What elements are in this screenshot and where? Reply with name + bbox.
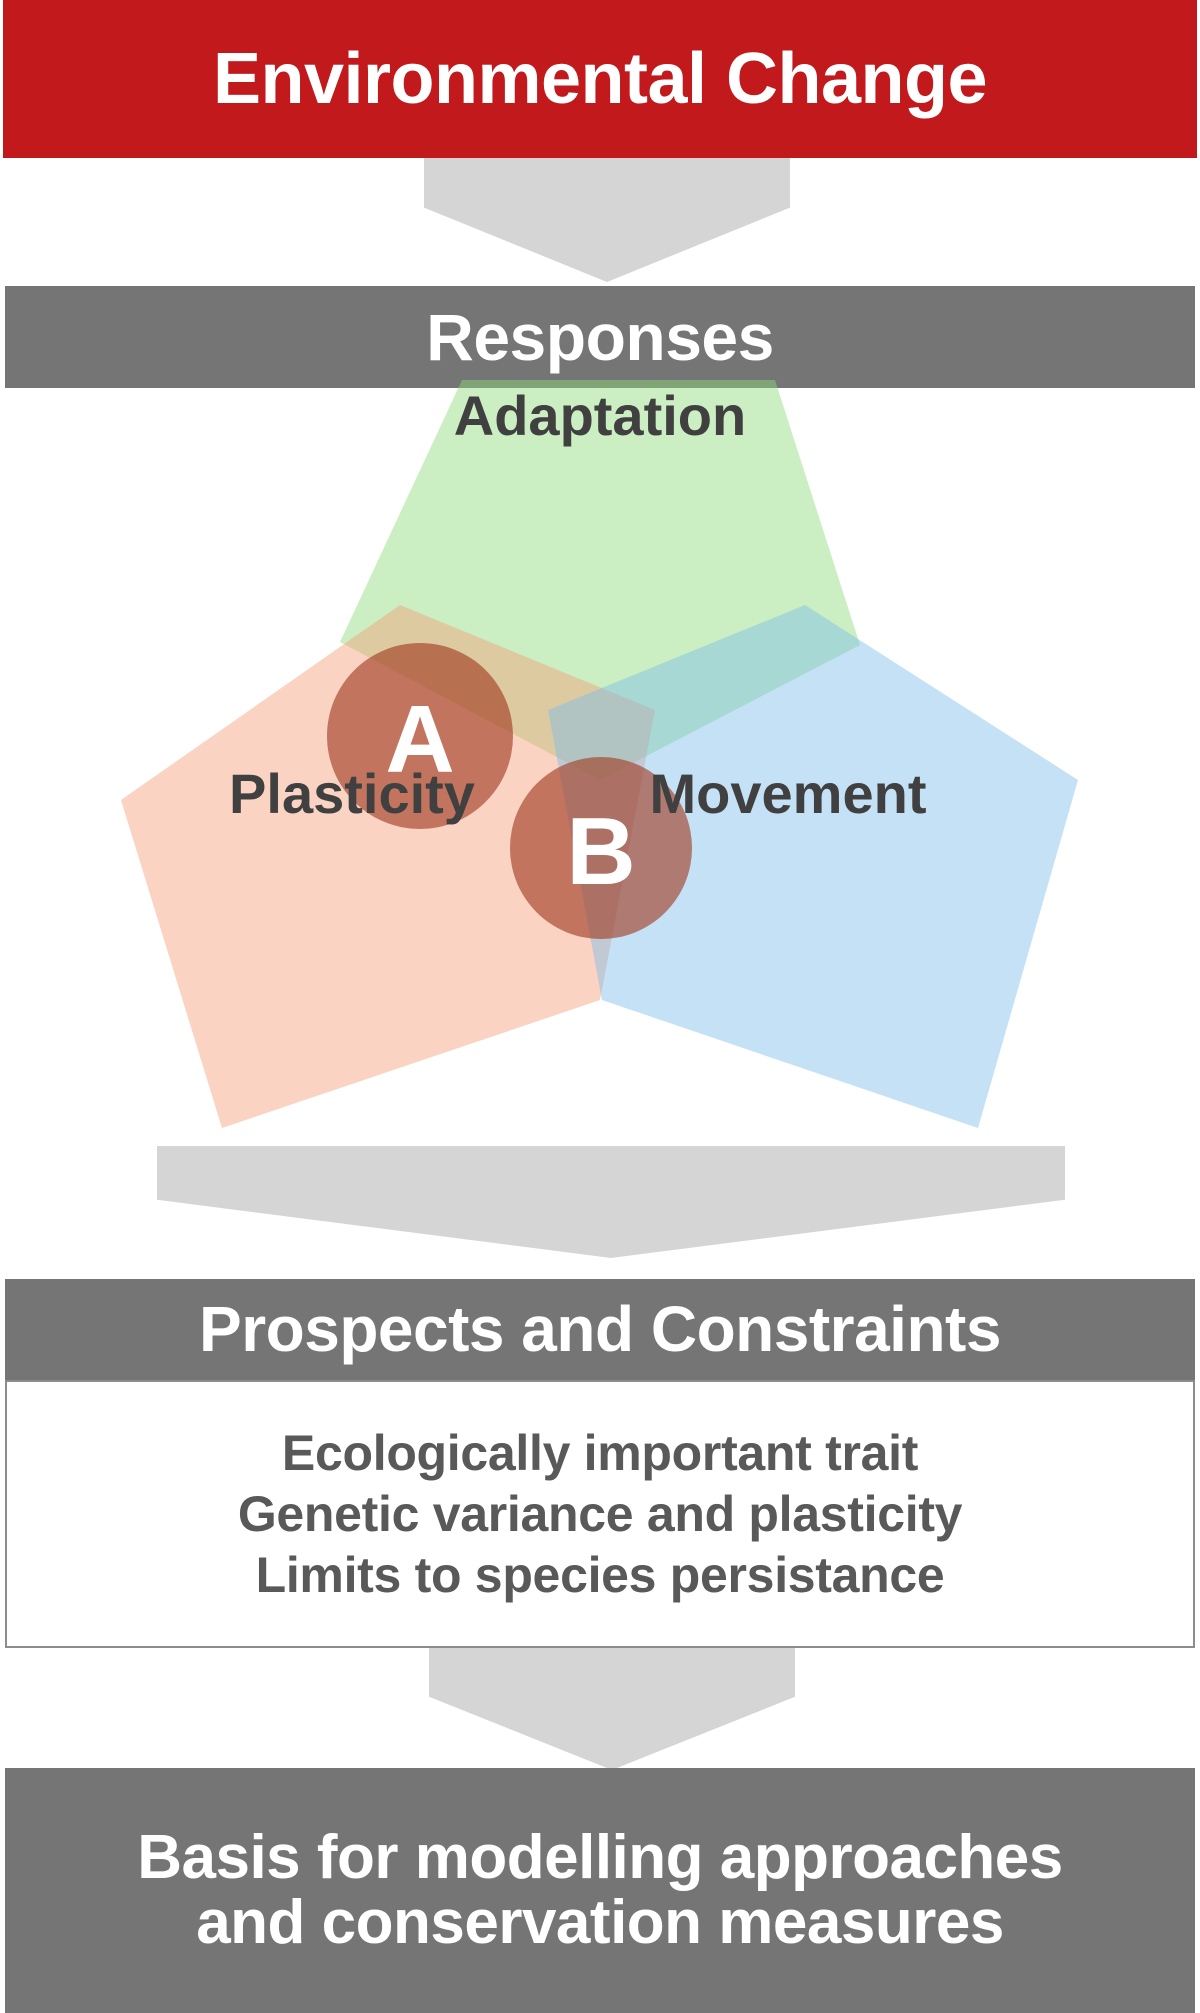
prospects-title: Prospects and Constraints <box>199 1296 1001 1363</box>
outcome-line-2: and conservation measures <box>196 1891 1004 1955</box>
pentagon-label-movement: Movement <box>650 762 927 825</box>
down-arrow-icon-to-prospects <box>157 1146 1065 1258</box>
overlap-circle-b-label: B <box>566 798 635 905</box>
responses-venn-diagram: Adaptation Plasticity Movement A B <box>0 380 1200 1140</box>
responses-banner: Responses <box>5 286 1195 388</box>
responses-title: Responses <box>426 303 774 372</box>
down-arrow-icon-to-responses <box>424 158 790 282</box>
outcome-line-1: Basis for modelling approaches <box>137 1826 1063 1890</box>
prospects-item: Genetic variance and plasticity <box>238 1485 962 1544</box>
prospects-detail-box: Ecologically important trait Genetic var… <box>5 1380 1195 1648</box>
prospects-item: Limits to species persistance <box>256 1546 945 1605</box>
overlap-circle-a-label: A <box>385 686 454 793</box>
pentagon-label-adaptation: Adaptation <box>454 384 746 447</box>
prospects-and-constraints-banner: Prospects and Constraints <box>5 1279 1195 1380</box>
environmental-change-title: Environmental Change <box>213 42 987 117</box>
down-arrow-icon-to-outcome <box>429 1648 795 1770</box>
environmental-change-banner: Environmental Change <box>3 0 1197 158</box>
outcome-banner: Basis for modelling approaches and conse… <box>5 1768 1195 2013</box>
venn-svg: Adaptation Plasticity Movement A B <box>0 380 1200 1140</box>
flow-diagram: Environmental Change Responses Adaptatio… <box>0 0 1200 2013</box>
prospects-item: Ecologically important trait <box>282 1424 918 1483</box>
